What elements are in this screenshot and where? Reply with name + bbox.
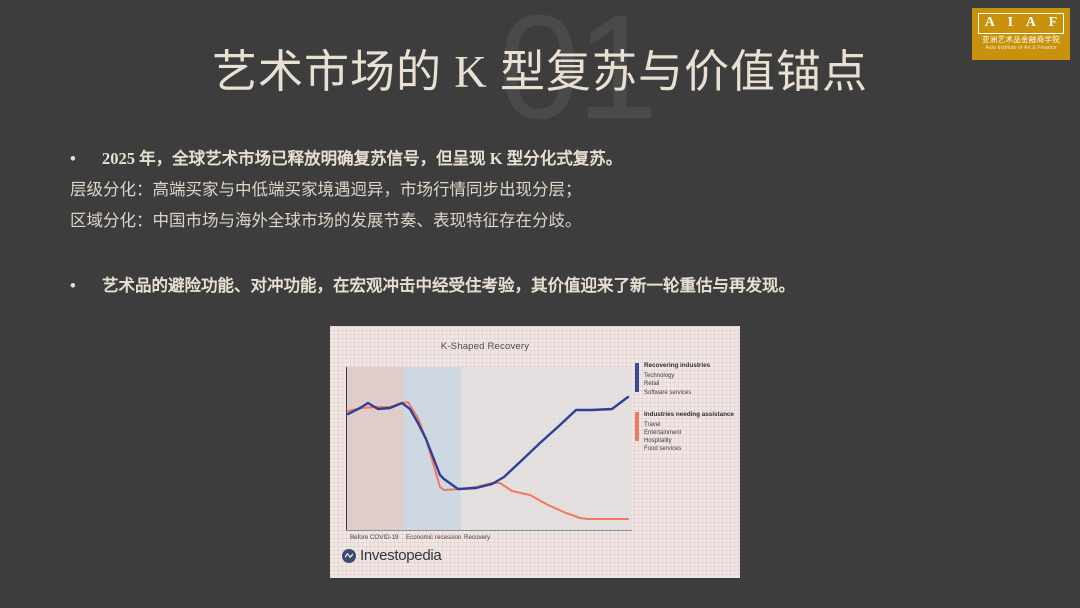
slide-body: • 2025 年，全球艺术市场已释放明确复苏信号，但呈现 K 型分化式复苏。 层… — [70, 143, 1020, 303]
legend-item-software-services: Software services — [644, 389, 735, 397]
chart-series-svg — [344, 367, 632, 531]
legend-group-recovering: Recovering industries Technology Retail … — [635, 362, 735, 397]
paragraph-spacer — [70, 238, 1020, 270]
sub-line-1: 层级分化：高端买家与中低端买家境遇迥异，市场行情同步出现分层； — [70, 174, 1020, 205]
bullet-text-1: 2025 年，全球艺术市场已释放明确复苏信号，但呈现 K 型分化式复苏。 — [102, 143, 622, 174]
bullet-marker-icon: • — [70, 270, 102, 301]
x-label-before-covid: Before COVID-19 — [350, 534, 399, 541]
x-label-recovery: Recovery — [464, 534, 490, 541]
bullet-marker-icon: • — [70, 143, 102, 174]
series-line-industries-needing-assistance — [348, 402, 628, 519]
legend-heading-recovering: Recovering industries — [644, 362, 735, 371]
sub-line-2: 区域分化：中国市场与海外全球市场的发展节奏、表现特征存在分歧。 — [70, 205, 1020, 236]
chart-plot-area — [344, 367, 632, 531]
legend-swatch-blue — [635, 363, 639, 392]
legend-swatch-orange — [635, 412, 639, 441]
legend-item-travel: Travel — [644, 421, 735, 429]
legend-item-hospitality: Hospitality — [644, 437, 735, 445]
x-label-economic-recession: Economic recession — [406, 534, 461, 541]
slide-title: 艺术市场的 K 型复苏与价值锚点 — [0, 44, 1080, 100]
investopedia-mark-icon — [342, 549, 356, 563]
series-line-recovering-industries — [348, 397, 628, 489]
legend-group-needing-assistance: Industries needing assistance Travel Ent… — [635, 411, 735, 454]
bullet-line-1: • 2025 年，全球艺术市场已释放明确复苏信号，但呈现 K 型分化式复苏。 — [70, 143, 1020, 174]
chart-x-axis-labels: Before COVID-19 Economic recession Recov… — [344, 534, 634, 548]
content-block-1: • 2025 年，全球艺术市场已释放明确复苏信号，但呈现 K 型分化式复苏。 层… — [70, 143, 1020, 236]
bullet-line-2: • 艺术品的避险功能、对冲功能，在宏观冲击中经受住考验，其价值迎来了新一轮重估与… — [70, 270, 1020, 301]
content-block-2: • 艺术品的避险功能、对冲功能，在宏观冲击中经受住考验，其价值迎来了新一轮重估与… — [70, 270, 1020, 301]
logo-border-box: A I A F — [978, 13, 1064, 34]
logo-letters: A I A F — [979, 15, 1063, 31]
investopedia-wordmark: Investopedia — [360, 547, 441, 564]
bullet-text-2: 艺术品的避险功能、对冲功能，在宏观冲击中经受住考验，其价值迎来了新一轮重估与再发… — [102, 270, 795, 301]
legend-item-retail: Retail — [644, 380, 735, 388]
investopedia-logo: Investopedia — [342, 547, 441, 564]
k-shaped-recovery-chart: K-Shaped Recovery Before COVID-19 Econom… — [330, 326, 740, 578]
chart-legend: Recovering industries Technology Retail … — [635, 362, 735, 468]
legend-item-food-services: Food services — [644, 445, 735, 453]
legend-item-entertainment: Entertainment — [644, 429, 735, 437]
legend-item-technology: Technology — [644, 372, 735, 380]
chart-title: K-Shaped Recovery — [330, 341, 740, 352]
legend-heading-needing-assistance: Industries needing assistance — [644, 411, 735, 420]
